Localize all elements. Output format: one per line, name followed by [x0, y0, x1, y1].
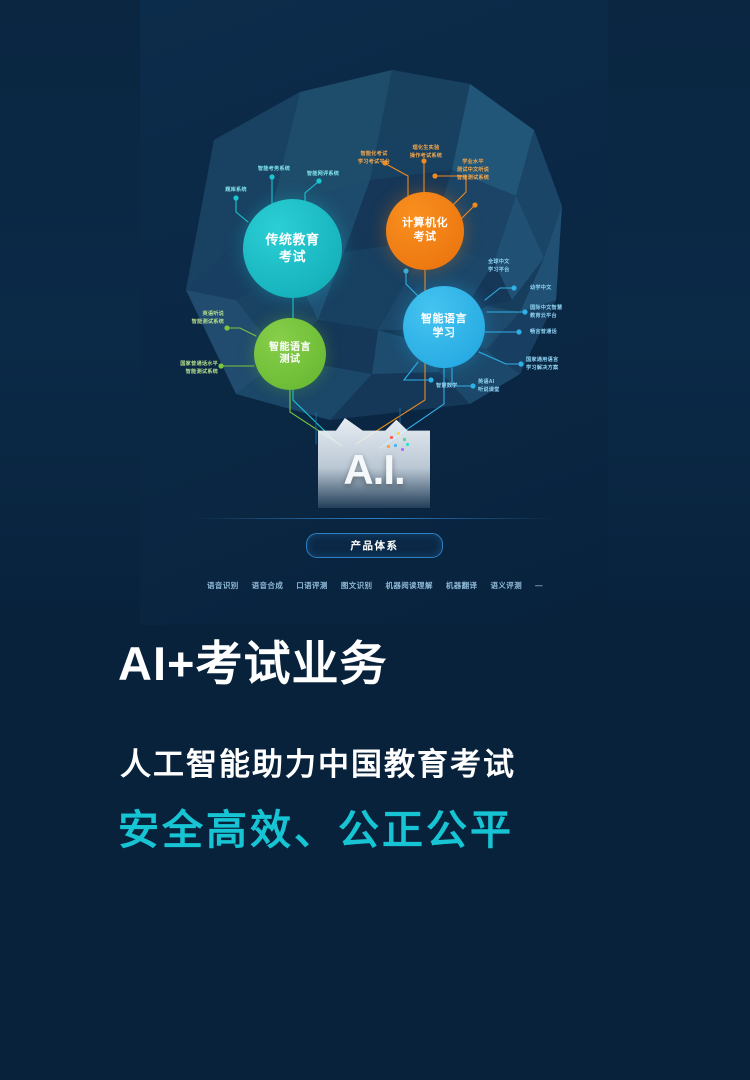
- ai-wordmark: A.I.: [318, 418, 430, 518]
- bubble-label-line1: 传统教育: [265, 232, 319, 248]
- leaf-label-smart-mathematics: 智慧数学: [436, 382, 476, 390]
- leaf-label-exam-invigilation-system: 智能考务系统: [246, 165, 302, 173]
- confetti-dot: [403, 438, 406, 441]
- leaf-label-intelligent-marking-system: 智能网评系统: [295, 170, 351, 178]
- bubble-label-line2: 考试: [279, 249, 306, 265]
- leaf-label-question-bank-system: 题库系统: [212, 186, 260, 194]
- confetti-dot: [401, 448, 404, 451]
- copy-block: AI+考试业务 人工智能助力中国教育考试 安全高效、公正公平: [0, 640, 750, 851]
- bubble-label-line1: 智能语言: [269, 342, 311, 355]
- tag-item[interactable]: 语音合成: [252, 580, 284, 591]
- tag-item[interactable]: 语音识别: [207, 580, 239, 591]
- tag-item[interactable]: 图文识别: [341, 580, 373, 591]
- confetti-dot: [394, 444, 397, 447]
- connector-graph: [0, 0, 750, 625]
- bubble-label-line2: 考试: [414, 231, 437, 245]
- leaf-label-international-chinese-smart-education-cloud-platform: 国际中文智慧 教育云平台: [530, 304, 590, 320]
- tag-item[interactable]: 语义评测: [490, 580, 522, 591]
- tag-item[interactable]: 机器翻译: [446, 580, 478, 591]
- subtitle-accent: 安全高效、公正公平: [118, 810, 750, 851]
- leaf-label-early-chinese-learning: 幼学中文: [530, 284, 588, 292]
- page-title: AI+考试业务: [118, 640, 750, 687]
- leaf-label-english-ai-listening-speaking-classroom: 英语AI 听说课堂: [478, 378, 524, 394]
- confetti-dot: [397, 432, 400, 435]
- leaf-label-mandarin-speech: 畅言普通话: [530, 328, 588, 336]
- tag-item[interactable]: 机器阅读理解: [385, 580, 432, 591]
- bubble-computerized-exam[interactable]: 计算机化 考试: [386, 192, 464, 270]
- bubble-intelligent-language-testing[interactable]: 智能语言 测试: [254, 318, 326, 390]
- subtitle-primary: 人工智能助力中国教育考试: [120, 749, 750, 780]
- bubble-label-line2: 测试: [280, 354, 301, 367]
- leaf-label-english-listening-speaking-intelligent-test-system: 英语听说 智能测试系统: [168, 310, 224, 326]
- divider-line: [193, 518, 555, 519]
- hero-banner: 传统教育 考试 计算机化 考试 智能语言 学习 智能语言 测试 智能考务系统 智…: [0, 0, 750, 625]
- leaf-label-academic-level-chinese-listening-speaking-test-system: 学业水平 测试中文听说 智能测试系统: [440, 158, 506, 182]
- leaf-label-global-chinese-learning-platform: 全球中文 学习平台: [488, 258, 546, 274]
- leaf-label-national-mandarin-proficiency-intelligent-test-system: 国家普通话水平 智能测试系统: [160, 360, 218, 376]
- leaf-label-national-common-language-learning-solution: 国家通用语言 学习解决方案: [526, 356, 588, 372]
- confetti-dot: [387, 445, 390, 448]
- confetti-dot: [406, 443, 409, 446]
- capability-tag-row: 语音识别 语音合成 口语评测 图文识别 机器阅读理解 机器翻译 语义评测 —: [150, 580, 600, 591]
- tag-item[interactable]: 口语评测: [296, 580, 328, 591]
- bubble-traditional-education-exam[interactable]: 传统教育 考试: [243, 199, 342, 298]
- bubble-intelligent-language-learning[interactable]: 智能语言 学习: [403, 286, 485, 368]
- bubble-label-line1: 计算机化: [402, 217, 448, 231]
- product-system-button[interactable]: 产品体系: [306, 533, 443, 558]
- confetti-dot: [390, 436, 393, 439]
- tag-item-more[interactable]: —: [535, 581, 543, 590]
- ai-wordmark-text: A.I.: [318, 446, 430, 494]
- bubble-label-line2: 学习: [433, 327, 456, 341]
- leaf-label-intelligent-assessment-learning-exam-platform: 智能化考试 学习考试平台: [344, 150, 404, 166]
- bubble-label-line1: 智能语言: [421, 313, 467, 327]
